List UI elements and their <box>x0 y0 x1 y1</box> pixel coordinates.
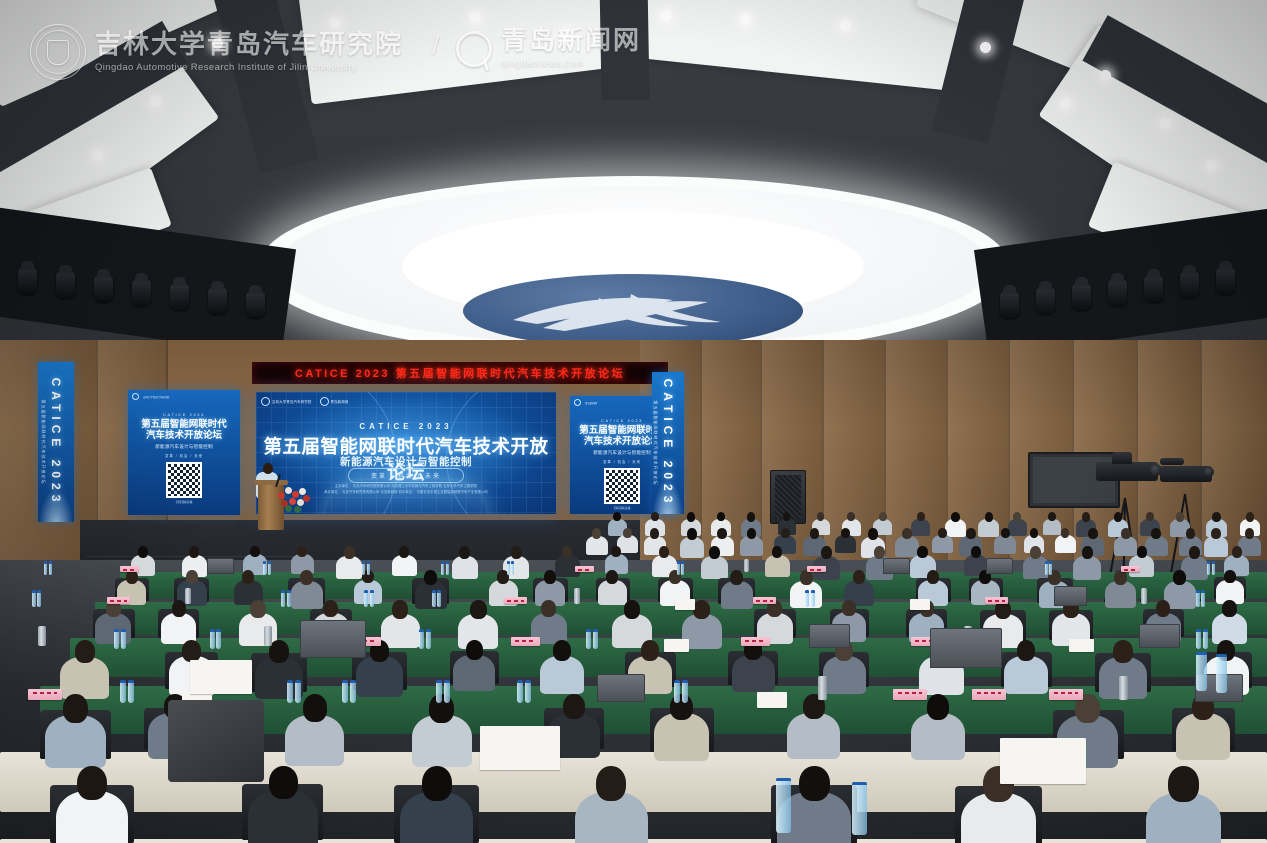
audience-member-head <box>1156 600 1170 617</box>
spotlight-icon <box>1108 280 1127 306</box>
name-card-icon <box>511 637 540 646</box>
spotlight-icon <box>1216 268 1235 294</box>
water-bottle-icon <box>120 680 126 703</box>
thermos-icon <box>264 626 272 646</box>
audience-member-torso <box>911 713 965 760</box>
water-bottle-icon <box>426 629 431 649</box>
audience-member-head <box>1245 528 1254 539</box>
audience-member-head <box>1151 528 1161 539</box>
audience-member-head <box>717 512 725 521</box>
audience-member-head <box>399 546 409 558</box>
audience-member-head <box>1082 546 1093 559</box>
audience-member-head <box>1061 528 1069 538</box>
banner-wave <box>38 488 74 522</box>
thermos-icon <box>818 676 827 700</box>
watermark-jilin-university: 吉林大学青岛汽车研究院 Qingdao Automotive Research … <box>30 24 403 80</box>
audience-member-head <box>1224 570 1236 583</box>
laptop-icon <box>1139 624 1180 648</box>
downlight-icon <box>660 10 671 21</box>
audience-member-head <box>730 570 743 585</box>
water-bottle-icon <box>367 561 370 575</box>
audience-member-head <box>250 600 266 618</box>
audience-member-head <box>1030 528 1038 538</box>
laptop-icon <box>930 628 1002 668</box>
conference-hall-screenshot: CATICE 2023 第五届智能网联时代汽车技术开放论坛 吉林大学青岛汽车研究… <box>0 0 1267 843</box>
audience-member-head <box>917 512 925 521</box>
audience-member-head <box>1137 546 1147 558</box>
audience-member-head <box>1173 570 1186 585</box>
downlight-icon <box>150 96 161 107</box>
screen-logo-label: 吉林大学青岛汽车研究院 <box>272 399 312 404</box>
thermos-icon <box>38 626 46 646</box>
spotlight-icon <box>132 280 151 306</box>
water-bottle-icon <box>128 680 134 703</box>
audience-member-head <box>659 546 669 558</box>
screen-logo-jilin: 吉林大学青岛汽车研究院 <box>261 397 312 406</box>
laptop-icon <box>1054 586 1087 606</box>
name-card-icon <box>575 566 594 572</box>
laptop-icon <box>883 558 910 574</box>
water-bottle-icon <box>364 590 368 607</box>
laptop-icon <box>207 558 234 574</box>
audience-member-torso <box>1043 519 1061 535</box>
audience-member-head <box>186 570 198 584</box>
audience-member-torso <box>823 656 866 694</box>
audience-member-head <box>242 570 254 584</box>
document-icon <box>190 660 252 694</box>
poster-event-code: CATICE 2023 <box>128 412 240 417</box>
audience-member-head <box>269 766 298 799</box>
audience-member-head <box>938 528 947 538</box>
spotlight-icon <box>1180 272 1199 298</box>
water-bottle-icon <box>342 680 348 703</box>
water-bottle-icon <box>44 561 47 575</box>
audience-member-torso <box>1004 656 1048 694</box>
audience-member-torso <box>1105 581 1136 608</box>
audience-member-head <box>641 640 659 661</box>
water-bottle-icon <box>37 590 41 607</box>
audience-member-head <box>250 546 260 557</box>
water-bottle-icon <box>1203 629 1208 649</box>
name-card-icon <box>1121 566 1140 572</box>
water-bottle-icon <box>370 590 374 607</box>
spotlight-icon <box>1036 288 1055 314</box>
side-poster-left: 吉林大学青岛汽车研究院 CATICE 2023 第五届智能网联时代 汽车技术开放… <box>128 390 240 515</box>
leaf-emblem-icon <box>503 286 763 338</box>
water-bottle-icon <box>121 629 126 649</box>
screen-car-silhouette <box>326 478 486 514</box>
audience-member-head <box>951 512 960 522</box>
audience-member-head <box>651 512 659 521</box>
laptop-icon <box>597 674 645 702</box>
audience-member-torso <box>356 656 403 697</box>
screen-sponsor-logos: 吉林大学青岛汽车研究院 青岛新闻网 <box>261 397 348 406</box>
jilin-university-logo-icon <box>261 397 270 406</box>
audience-member-torso <box>732 655 775 692</box>
poster-qr-caption: 扫码观看直播 <box>128 500 240 504</box>
water-bottle-icon <box>1196 629 1201 649</box>
water-bottle-icon <box>805 590 809 607</box>
water-bottle-icon <box>32 590 36 607</box>
water-bottle-icon <box>511 561 514 575</box>
spotlight-icon <box>94 276 113 302</box>
water-bottle-icon <box>682 680 688 703</box>
audience-member-head <box>606 570 618 584</box>
audience-member-head <box>971 546 981 558</box>
audience-member-head <box>613 512 621 521</box>
audience-member-head <box>799 766 830 801</box>
thermos-icon <box>574 588 580 604</box>
water-bottle-icon <box>1207 561 1210 575</box>
spotlight-icon <box>1072 284 1091 310</box>
audience-member-head <box>1232 546 1242 558</box>
water-bottle-icon <box>586 629 591 649</box>
audience-member-head <box>138 546 148 558</box>
audience-member-torso <box>701 556 728 579</box>
audience-member-head <box>687 512 695 522</box>
audience-member-head <box>470 600 487 619</box>
audience-member-head <box>511 546 522 559</box>
led-banner: CATICE 2023 第五届智能网联时代汽车技术开放论坛 <box>252 362 668 384</box>
audience-member-head <box>902 528 912 539</box>
audience-member-head <box>1114 512 1122 522</box>
water-bottle-icon <box>1196 652 1207 691</box>
water-bottle-icon <box>525 680 531 703</box>
audience-member-head <box>466 640 483 660</box>
banner-wave <box>652 480 684 514</box>
audience-member-head <box>1212 512 1221 522</box>
water-bottle-icon <box>444 680 450 703</box>
audience-member-head <box>182 640 201 662</box>
audience-member-head <box>1222 600 1237 617</box>
audience-member-head <box>611 546 621 557</box>
water-bottle-icon <box>216 629 221 649</box>
audience-member-torso <box>1114 536 1137 556</box>
audience-member-head <box>817 512 824 521</box>
audience-member-torso <box>1204 536 1228 557</box>
spotlight-icon <box>56 272 75 298</box>
audience-member-head <box>541 600 556 617</box>
audience-member-torso <box>285 715 344 766</box>
name-card-icon <box>107 597 130 604</box>
downlight-icon <box>740 14 751 25</box>
downlight-icon <box>1160 118 1171 129</box>
water-bottle-icon <box>677 561 680 575</box>
water-bottle-icon <box>517 680 523 703</box>
water-bottle-icon <box>437 590 441 607</box>
water-bottle-icon <box>1201 590 1205 607</box>
audience-member-torso <box>354 580 382 604</box>
audience-member-torso <box>680 537 704 558</box>
water-bottle-icon <box>593 629 598 649</box>
audience-member-head <box>879 512 887 521</box>
jilin-university-logo-icon <box>132 393 139 400</box>
downlight-icon <box>1060 98 1071 109</box>
thermos-icon <box>1141 588 1147 604</box>
audience-member-head <box>1211 528 1221 539</box>
audience-member-head <box>269 640 289 663</box>
laptop-icon <box>986 558 1013 574</box>
audience-member-torso <box>1176 713 1230 760</box>
name-card-icon <box>985 597 1008 604</box>
watermark-separator-group: / <box>432 30 439 61</box>
audience-member-torso <box>1008 519 1027 536</box>
water-bottle-icon <box>1045 561 1048 575</box>
screen-logo-label: 青岛新闻网 <box>331 399 349 404</box>
audience-member-head <box>459 546 470 559</box>
name-card-icon <box>28 689 62 700</box>
audience-member-torso <box>721 581 753 609</box>
water-bottle-icon <box>1216 654 1227 693</box>
audience-member-head <box>783 512 790 521</box>
water-bottle-icon <box>1212 561 1215 575</box>
vertical-banner-subtext: 第五届智能网联时代汽车技术开放论坛 <box>40 400 46 485</box>
audience-member-head <box>868 528 878 540</box>
audience-member-head <box>927 694 949 720</box>
downlight-icon <box>92 150 103 161</box>
backpack-icon <box>168 700 264 782</box>
watermark-separator: / <box>432 30 439 61</box>
audience-member-head <box>841 528 850 538</box>
audience-member-head <box>1030 546 1041 559</box>
audience-member-head <box>63 694 88 723</box>
water-bottle-icon <box>287 590 291 607</box>
poster-subtitle: 新能源汽车设计与智能控制 <box>128 444 240 450</box>
audience-member-head <box>563 694 585 719</box>
audience-member-head <box>747 528 756 539</box>
audience-member-head <box>1013 512 1021 521</box>
audience-member-head <box>747 512 755 522</box>
audience-member-head <box>624 600 640 619</box>
audience-member-head <box>172 600 186 617</box>
water-bottle-icon <box>507 561 510 575</box>
audience-member-head <box>800 570 813 585</box>
audience-member-head <box>300 570 313 585</box>
poster-logo-label: 青岛新闻网 <box>585 401 597 405</box>
audience-member-head <box>927 570 939 584</box>
downlight-icon <box>840 20 851 31</box>
audience-member-head <box>303 694 327 722</box>
audience-member-head <box>917 546 928 558</box>
water-bottle-icon <box>441 561 444 575</box>
qr-code-icon <box>604 468 640 504</box>
poster-logos: 吉林大学青岛汽车研究院 <box>128 390 240 400</box>
name-card-icon <box>972 689 1006 700</box>
audience-member-head <box>874 546 885 559</box>
screen-subtitle: 新能源汽车设计与智能控制 <box>256 454 556 469</box>
poster-title: 第五届智能网联时代 汽车技术开放论坛 <box>128 419 240 441</box>
audience-member-head <box>853 570 865 584</box>
water-bottle-icon <box>432 590 436 607</box>
audience-member-head <box>592 528 601 539</box>
audience-member-head <box>847 512 855 521</box>
audience-member-head <box>1113 640 1133 663</box>
audience-member-head <box>344 546 355 559</box>
document-icon <box>1000 738 1086 784</box>
downlight-icon <box>980 42 991 53</box>
audience-member-head <box>544 570 556 584</box>
audience-member-head <box>596 766 626 801</box>
audience-member-torso <box>336 556 362 579</box>
water-bottle-icon <box>350 680 356 703</box>
water-bottle-icon <box>49 561 52 575</box>
audience-member-head <box>1146 512 1154 521</box>
laptop-icon <box>809 624 850 648</box>
audience-member-head <box>1176 512 1184 522</box>
audience-member-torso <box>540 656 584 694</box>
water-bottle-icon <box>776 778 791 833</box>
watermark-qingdao-news: 青岛新闻网 qingdaonews.com <box>456 28 641 69</box>
audience-member-head <box>77 766 107 800</box>
audience-member-head <box>75 640 95 663</box>
spotlight-icon <box>208 288 227 314</box>
water-bottle-icon <box>852 782 867 835</box>
audience-member-head <box>1001 528 1010 538</box>
vertical-banner-left: CATICE 2023 第五届智能网联时代汽车技术开放论坛 <box>38 362 74 522</box>
thermos-icon <box>1119 676 1128 700</box>
audience-member-head <box>1088 528 1098 539</box>
audience-member-head <box>424 570 437 585</box>
audience-member-head <box>781 528 790 538</box>
audience-member-torso <box>765 555 790 577</box>
water-bottle-icon <box>114 629 119 649</box>
thermos-icon <box>185 588 191 604</box>
laptop-icon <box>300 620 366 658</box>
audience-member-torso <box>895 536 919 557</box>
audience-member-torso <box>1145 536 1168 556</box>
audience-member-head <box>1168 766 1199 802</box>
water-bottle-icon <box>674 680 680 703</box>
watermark-chinese: 青岛新闻网 <box>501 28 641 54</box>
watermark-chinese: 吉林大学青岛汽车研究院 <box>95 32 403 58</box>
audience-member-head <box>126 570 138 584</box>
audience-member-head <box>985 512 993 522</box>
audience-member-torso <box>452 556 478 579</box>
university-seal-icon <box>30 24 86 80</box>
audience-member-head <box>562 546 572 558</box>
audience-member-torso <box>415 581 447 609</box>
audience-member-head <box>1017 640 1035 661</box>
water-bottle-icon <box>446 561 449 575</box>
vertical-banner-subtext: 第五届智能网联时代汽车技术开放论坛 <box>652 401 658 486</box>
document-icon <box>1069 639 1094 652</box>
document-icon <box>675 599 695 610</box>
audience-member-head <box>422 766 452 801</box>
water-bottle-icon <box>811 590 815 607</box>
audience-member-head <box>650 528 659 539</box>
name-card-icon <box>893 689 927 700</box>
thermos-icon <box>744 559 749 572</box>
watermark-english: Qingdao Automotive Research Institute of… <box>95 62 403 73</box>
audience-member-torso <box>740 536 763 556</box>
name-card-icon <box>753 597 776 604</box>
audience-member-head <box>323 600 338 617</box>
name-card-icon <box>504 597 527 604</box>
qingdao-news-logo-icon <box>320 397 329 406</box>
spotlight-icon <box>170 284 189 310</box>
document-icon <box>910 599 930 610</box>
document-icon <box>664 639 689 652</box>
water-bottle-icon <box>436 680 442 703</box>
ceiling-emblem-disc <box>463 274 803 348</box>
downlight-icon <box>1100 70 1111 81</box>
q-circle-icon <box>456 31 492 67</box>
audience-member-head <box>693 600 710 619</box>
audience-member-head <box>392 600 408 619</box>
name-card-icon <box>1049 689 1083 700</box>
audience-member-head <box>1114 570 1127 585</box>
audience-member-head <box>623 528 632 538</box>
audience-member-head <box>687 528 697 540</box>
audience-member-head <box>189 546 199 558</box>
audience-member-head <box>297 546 307 557</box>
audience-member-head <box>1048 512 1056 521</box>
watermark-english: qingdaonews.com <box>501 58 641 69</box>
document-icon <box>480 726 560 770</box>
flower-arrangement-icon <box>276 484 310 512</box>
water-bottle-icon <box>362 561 365 575</box>
audience-member-torso <box>1212 613 1247 644</box>
water-bottle-icon <box>210 629 215 649</box>
spotlight-icon <box>1000 292 1019 318</box>
ceiling-panel <box>632 0 978 92</box>
audience-member-torso <box>453 655 495 691</box>
water-bottle-icon <box>268 561 271 575</box>
screen-event-code: CATICE 2023 <box>256 422 556 431</box>
audience-member-torso <box>654 713 709 761</box>
spotlight-icon <box>18 268 37 294</box>
audience-member-head <box>1082 512 1090 522</box>
audience-member-head <box>966 528 976 539</box>
audience-member-head <box>709 546 720 559</box>
audience-member-head <box>842 600 856 616</box>
vertical-banner-right: CATICE 2023 第五届智能网联时代汽车技术开放论坛 <box>652 372 684 514</box>
audience-member-head <box>1121 528 1131 539</box>
poster-logo-label: 吉林大学青岛汽车研究院 <box>143 395 169 399</box>
audience-member-torso <box>392 555 417 576</box>
poster-keywords: 变革 / 机会 / 未来 <box>128 453 240 458</box>
audience-member-head <box>821 546 832 559</box>
water-bottle-icon <box>287 680 293 703</box>
screen-logo-qdnews: 青岛新闻网 <box>320 397 349 406</box>
downlight-icon <box>1206 160 1217 171</box>
audience-member-head <box>1186 528 1195 539</box>
name-card-icon <box>120 566 139 572</box>
audience-member-head <box>810 528 819 539</box>
audience-member-head <box>772 546 782 558</box>
water-bottle-icon <box>1049 561 1052 575</box>
audience-member-head <box>1246 512 1254 522</box>
audience-member-head <box>553 640 571 661</box>
spotlight-icon <box>246 292 265 318</box>
audience-member-torso <box>60 657 109 699</box>
audience-member-head <box>717 528 727 539</box>
qr-code-icon <box>166 462 202 498</box>
led-banner-text: CATICE 2023 第五届智能网联时代汽车技术开放论坛 <box>295 365 625 381</box>
document-icon <box>757 692 787 708</box>
water-bottle-icon <box>281 590 285 607</box>
audience-member-torso <box>787 713 840 759</box>
name-card-icon <box>741 637 770 646</box>
downlight-icon <box>470 12 481 23</box>
speaker-head <box>263 463 273 474</box>
water-bottle-icon <box>419 629 424 649</box>
audience-member-head <box>1189 546 1200 559</box>
water-bottle-icon <box>295 680 301 703</box>
audience-member-torso <box>1073 556 1101 580</box>
spotlight-icon <box>1144 276 1163 302</box>
water-bottle-icon <box>681 561 684 575</box>
